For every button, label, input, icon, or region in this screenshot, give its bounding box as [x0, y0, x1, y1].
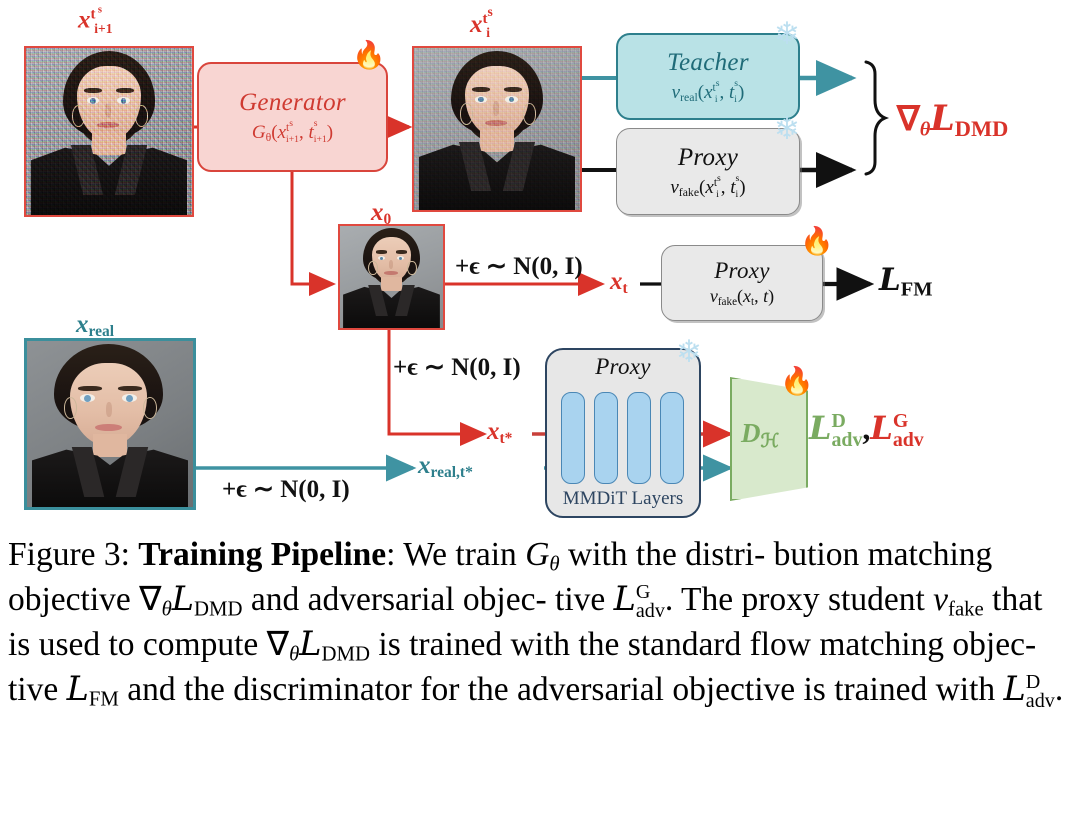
xreal-image: [24, 338, 196, 510]
snowflake-icon-teacher: ❄: [774, 18, 800, 49]
teacher-title: Teacher: [667, 49, 749, 77]
caption-dmd-inline: ∇θLDMD: [139, 581, 242, 618]
noisy-input-label: xt s i+1: [78, 6, 112, 36]
noise-label-bottom-middle: +ϵ ∼ N(0, I): [393, 352, 521, 382]
dmd-loss-label: ∇θLDMD: [897, 98, 1008, 142]
fire-icon-generator: 🔥: [352, 42, 386, 69]
proxy-mid-box[interactable]: Proxy vfake(xt, t): [661, 245, 823, 321]
caption-seg-3: and adversarial objec-: [243, 581, 547, 618]
generator-title: Generator: [239, 89, 346, 117]
noise-label-middle: +ϵ ∼ N(0, I): [455, 251, 583, 281]
noise-label-bottom-left: +ϵ ∼ N(0, I): [222, 474, 350, 504]
generator-formula: Gθ(xtsi+1, tsi+1): [252, 119, 333, 145]
caption-seg-5: . The proxy student: [665, 581, 933, 618]
caption-fm-inline: LFM: [67, 671, 119, 708]
caption-dmd-inline-2: ∇θLDMD: [267, 626, 370, 663]
mmdit-title: Proxy: [595, 354, 651, 380]
training-pipeline-figure: xt s i+1 Generator Gθ(xtsi+1, tsi+1) 🔥 x…: [0, 0, 1080, 530]
adv-losses-label: LDadv,LGadv: [809, 409, 924, 450]
noisy-input-image: [24, 46, 194, 217]
fm-loss-label: LFM: [879, 262, 933, 301]
caption-advd-inline: LDadv: [1004, 671, 1055, 708]
generator-box[interactable]: Generator Gθ(xtsi+1, tsi+1): [197, 62, 388, 172]
proxy-mid-title: Proxy: [714, 258, 770, 284]
caption-seg-4: tive: [555, 581, 614, 618]
xrealtstar-label: xreal,t*: [418, 452, 473, 482]
denoised-output-image: [412, 46, 582, 212]
mmdit-layer-bar-3: [627, 392, 651, 484]
proxy-top-title: Proxy: [678, 144, 738, 172]
caption-seg-11: .: [1055, 671, 1063, 708]
xt-label: xt: [610, 268, 628, 298]
denoised-output-label: xts i: [470, 6, 493, 41]
mmdit-layers-label: MMDiT Layers: [555, 488, 691, 510]
xtstar-label: xt*: [487, 418, 512, 448]
discriminator-symbol: Dℋ: [741, 418, 779, 453]
xreal-label: xreal: [76, 311, 114, 341]
caption-seg-9: and the discriminator for the adversaria…: [119, 671, 795, 708]
caption-vfake-inline: vfake: [933, 581, 984, 618]
proxy-mid-formula: vfake(xt, t): [710, 286, 774, 308]
caption-prefix: Figure 3:: [8, 536, 138, 573]
snowflake-icon-mmdit: ❄: [676, 336, 702, 367]
proxy-top-box[interactable]: Proxy vfake(xts i, tsi): [616, 128, 800, 215]
fire-icon-discriminator: 🔥: [780, 368, 814, 395]
caption-seg-7: is trained with the standard flow matchi…: [370, 626, 1036, 663]
mmdit-layer-bar-1: [561, 392, 585, 484]
figure-caption: Figure 3: Training Pipeline: We train Gθ…: [8, 534, 1072, 713]
caption-advg-inline: LGadv: [614, 581, 665, 618]
caption-bold-title: Training Pipeline: [138, 536, 386, 573]
x0-image: [338, 224, 445, 330]
mmdit-layer-bar-2: [594, 392, 618, 484]
mmdit-layer-bar-4: [660, 392, 684, 484]
fire-icon-proxy-mid: 🔥: [800, 228, 834, 255]
teacher-formula: vreal(xts i, tsi): [672, 79, 745, 105]
teacher-box[interactable]: Teacher vreal(xts i, tsi): [616, 33, 800, 120]
caption-seg-8: tive: [8, 671, 67, 708]
snowflake-icon-proxy-top: ❄: [774, 113, 800, 144]
caption-seg-1: : We train Gθ with the distri-: [386, 536, 765, 573]
caption-seg-10: is trained with: [804, 671, 1004, 708]
proxy-top-formula: vfake(xts i, tsi): [670, 174, 745, 200]
